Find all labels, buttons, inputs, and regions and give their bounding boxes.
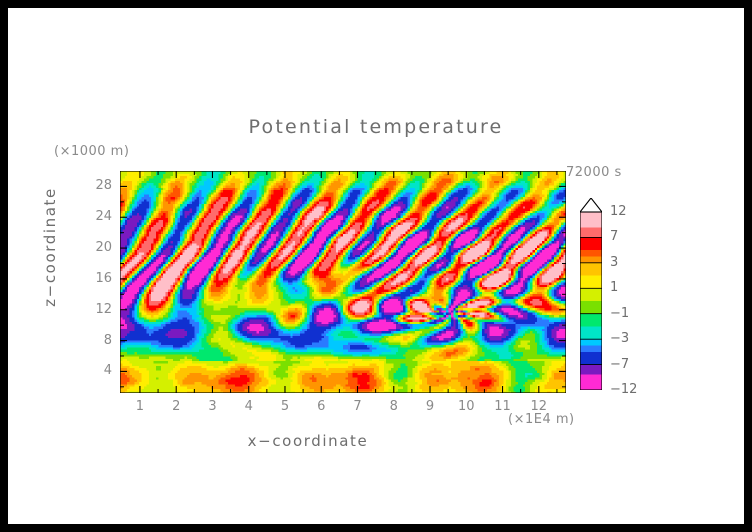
figure-canvas: Potential temperature (×1000 m) 72000 s … — [8, 8, 744, 524]
y-tick-label: 16 — [84, 271, 112, 286]
y-tick-label: 20 — [84, 240, 112, 255]
x-tick-label: 5 — [270, 399, 300, 414]
y-tick-label: 24 — [84, 209, 112, 224]
x-axis-title: x−coordinate — [8, 432, 608, 450]
x-tick-label: 1 — [125, 399, 155, 414]
figure-border: Potential temperature (×1000 m) 72000 s … — [0, 0, 752, 532]
heatmap-plot — [120, 171, 566, 393]
x-tick-label: 12 — [524, 399, 554, 414]
y-tick-label: 12 — [84, 302, 112, 317]
colorbar — [580, 198, 602, 390]
x-tick-label: 6 — [306, 399, 336, 414]
plot-title: Potential temperature — [8, 116, 744, 138]
colorbar-tick-label: −1 — [610, 306, 629, 321]
x-tick-label: 7 — [343, 399, 373, 414]
x-tick-label: 4 — [234, 399, 264, 414]
colorbar-tick-label: 12 — [610, 204, 627, 219]
colorbar-tick-label: −12 — [610, 382, 637, 397]
x-tick-label: 2 — [161, 399, 191, 414]
colorbar-tick-label: −3 — [610, 331, 629, 346]
x-tick-label: 11 — [488, 399, 518, 414]
x-axis-unit-label: (×1E4 m) — [508, 412, 575, 427]
y-axis-title: z−coordinate — [41, 177, 59, 317]
x-tick-label: 10 — [451, 399, 481, 414]
x-tick-label: 9 — [415, 399, 445, 414]
y-axis-unit-label: (×1000 m) — [54, 144, 129, 159]
x-tick-label: 8 — [379, 399, 409, 414]
y-tick-label: 8 — [84, 333, 112, 348]
colorbar-tick-label: 1 — [610, 280, 618, 295]
x-tick-label: 3 — [197, 399, 227, 414]
y-tick-label: 28 — [84, 178, 112, 193]
colorbar-tick-label: −7 — [610, 357, 629, 372]
y-tick-label: 4 — [84, 363, 112, 378]
colorbar-tick-label: 3 — [610, 255, 618, 270]
colorbar-tick-label: 7 — [610, 229, 618, 244]
time-annotation: 72000 s — [566, 165, 622, 180]
